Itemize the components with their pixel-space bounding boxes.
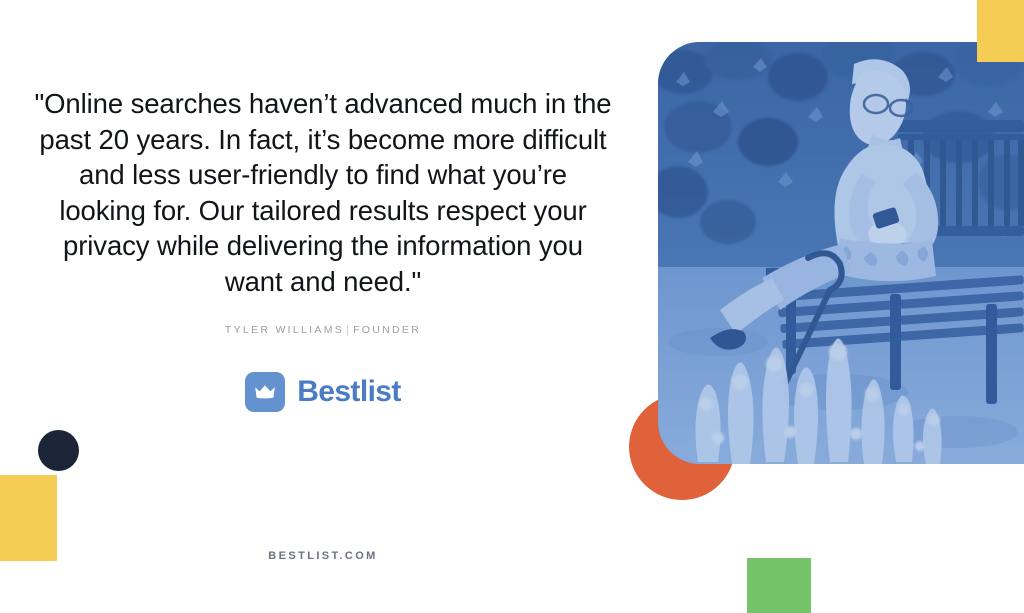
attribution-separator: |: [344, 324, 353, 336]
attribution-name: TYLER WILLIAMS: [225, 324, 344, 336]
attribution-role: FOUNDER: [353, 324, 421, 336]
site-url: BESTLIST.COM: [34, 550, 612, 562]
brand-logo[interactable]: Bestlist: [34, 372, 612, 412]
yellow-square-decoration: [977, 0, 1024, 62]
green-square-decoration: [747, 558, 811, 613]
quote-text: "Online searches haven’t advanced much i…: [34, 86, 612, 299]
testimonial-photo: [658, 42, 1024, 464]
photo-illustration: [658, 42, 1024, 464]
quote-card: "Online searches haven’t advanced much i…: [0, 0, 1024, 613]
crown-icon-glyph: [254, 384, 276, 400]
content-column: "Online searches haven’t advanced much i…: [0, 0, 645, 613]
logo-wordmark: Bestlist: [297, 375, 401, 409]
attribution: TYLER WILLIAMS|FOUNDER: [34, 324, 612, 336]
crown-icon: [245, 372, 285, 412]
